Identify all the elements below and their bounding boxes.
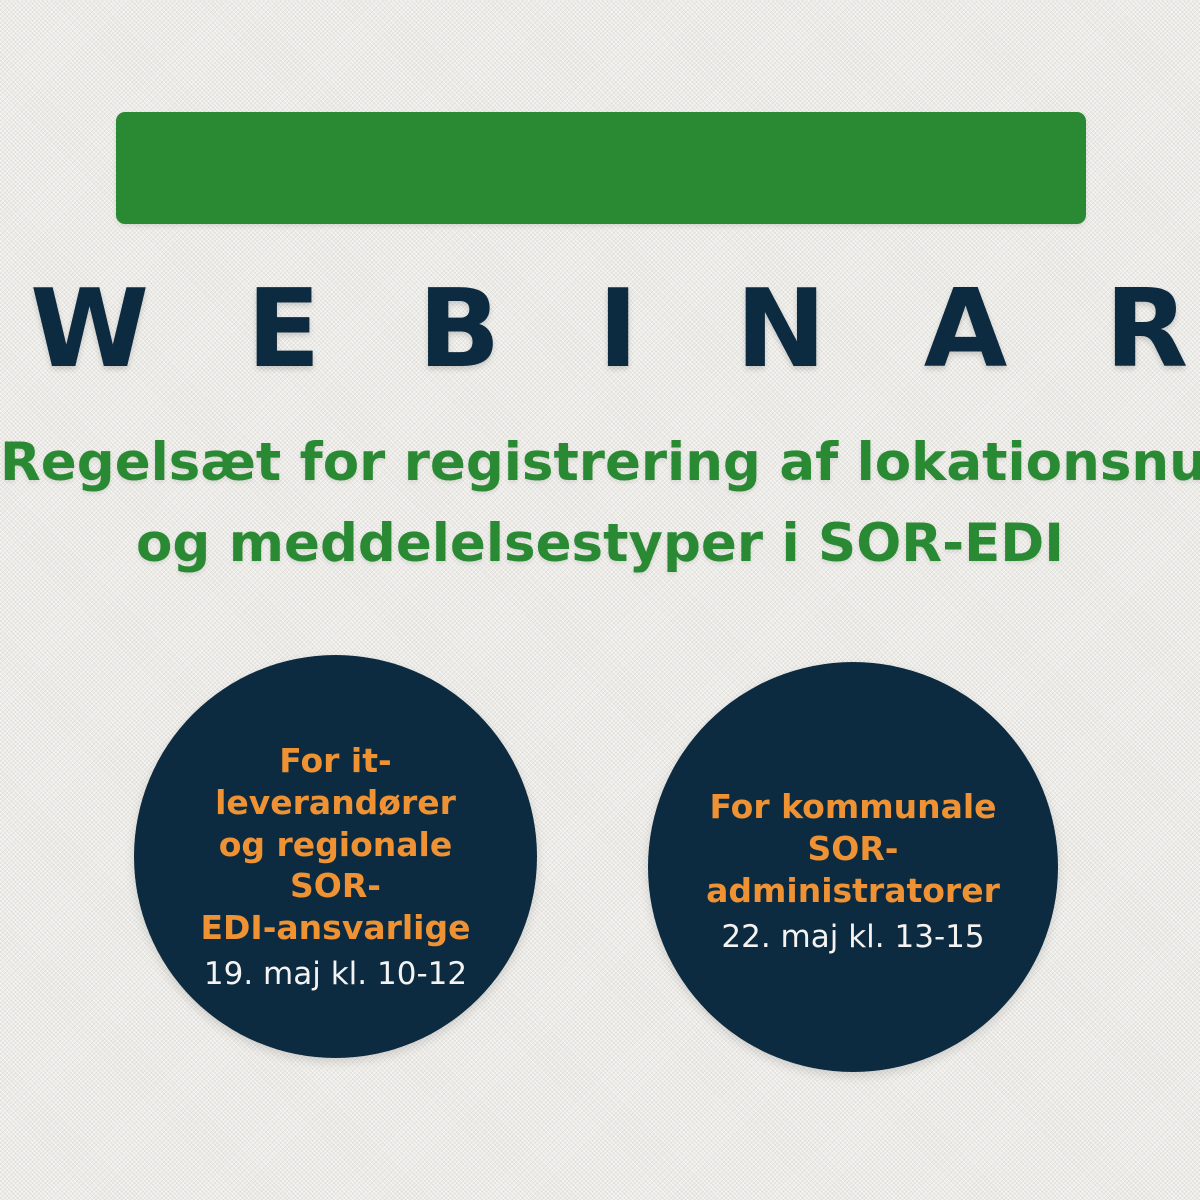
green-banner-bar: [116, 112, 1086, 224]
session-audience-line-3: EDI-ansvarlige: [201, 908, 471, 947]
page-subtitle: Regelsæt for registrering af lokationsnu…: [0, 423, 1200, 584]
webinar-poster: W E B I N A R Regelsæt for registrering …: [0, 0, 1200, 1200]
session-audience-line-1: For it-leverandører: [215, 741, 456, 822]
session-datetime: 22. maj kl. 13-15: [721, 917, 984, 957]
page-subtitle-line-2: og meddelelsestyper i SOR-EDI: [0, 504, 1200, 585]
page-title: W E B I N A R: [0, 276, 1200, 384]
session-circle-it-suppliers: For it-leverandører og regionale SOR- ED…: [134, 655, 537, 1058]
session-audience: For it-leverandører og regionale SOR- ED…: [168, 740, 503, 948]
session-circle-municipal-admins: For kommunale SOR- administratorer 22. m…: [648, 662, 1058, 1072]
session-audience-line-1: For kommunale SOR-: [709, 787, 996, 868]
session-audience: For kommunale SOR- administratorer: [678, 786, 1028, 911]
session-audience-line-2: og regionale SOR-: [219, 825, 453, 906]
session-datetime: 19. maj kl. 10-12: [204, 954, 467, 994]
page-subtitle-line-1: Regelsæt for registrering af lokationsnu…: [0, 423, 1200, 504]
session-audience-line-2: administratorer: [706, 871, 1000, 910]
